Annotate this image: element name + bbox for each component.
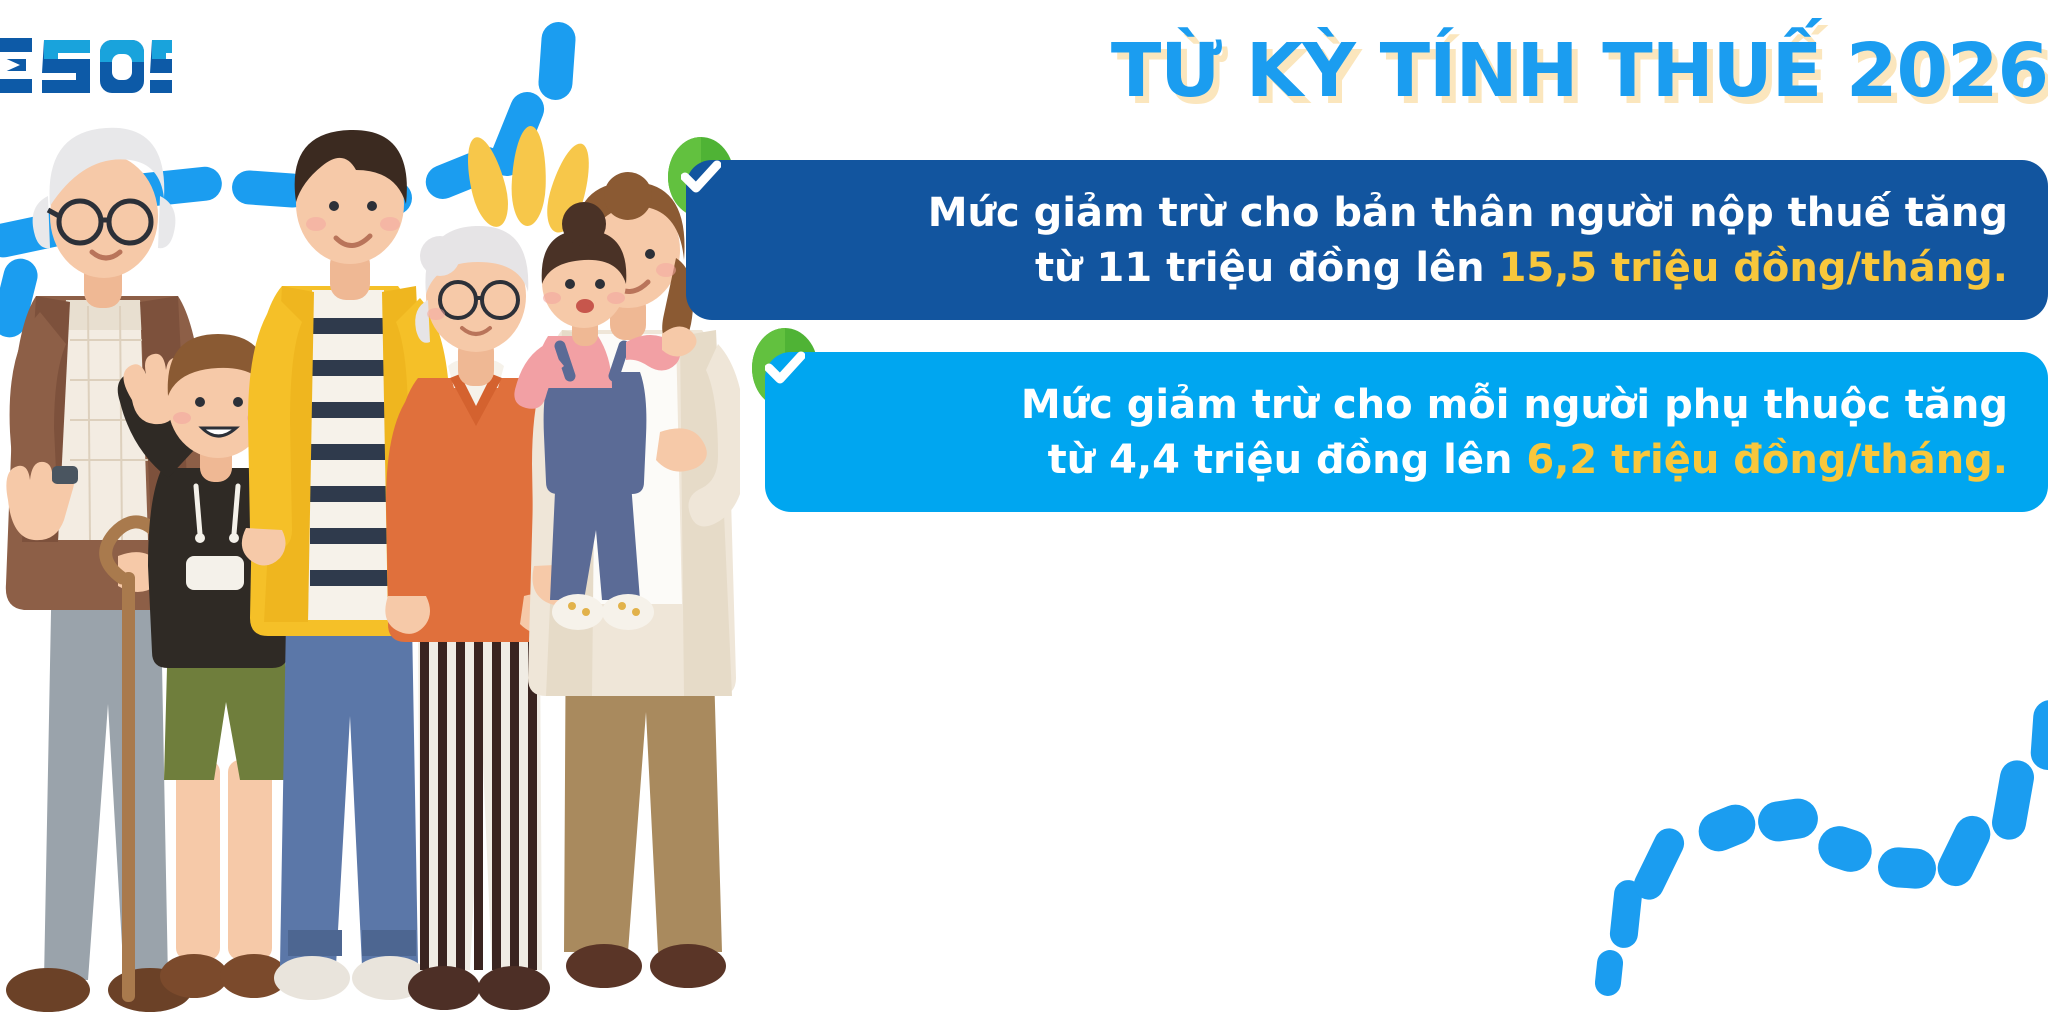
card1-line2-highlight: 15,5 triệu đồng/tháng. xyxy=(1499,245,2008,291)
benefit-card-self-deduction: Mức giảm trừ cho bản thân người nộp thuế… xyxy=(686,160,2048,320)
page-title: TỪ KỲ TÍNH THUẾ 2026 xyxy=(700,34,2048,108)
card1-line2-prefix: từ 11 triệu đồng lên xyxy=(1035,245,1499,291)
check-mark-icon xyxy=(681,160,721,194)
check-mark-icon xyxy=(765,351,805,385)
infographic-canvas: TỪ KỲ TÍNH THUẾ 2026 Mức giảm trừ cho bả… xyxy=(0,0,2048,1024)
family-group-illustration xyxy=(0,0,740,1024)
card2-line2-highlight: 6,2 triệu đồng/tháng. xyxy=(1526,437,2008,483)
card1-line2: từ 11 triệu đồng lên 15,5 triệu đồng/thá… xyxy=(732,241,2008,296)
card1-line1: Mức giảm trừ cho bản thân người nộp thuế… xyxy=(732,186,2008,241)
card2-line2: từ 4,4 triệu đồng lên 6,2 triệu đồng/thá… xyxy=(811,433,2008,488)
card2-line1: Mức giảm trừ cho mỗi người phụ thuộc tăn… xyxy=(811,378,2008,433)
benefit-card-dependent-deduction: Mức giảm trừ cho mỗi người phụ thuộc tăn… xyxy=(765,352,2048,512)
card2-line2-prefix: từ 4,4 triệu đồng lên xyxy=(1048,437,1527,483)
